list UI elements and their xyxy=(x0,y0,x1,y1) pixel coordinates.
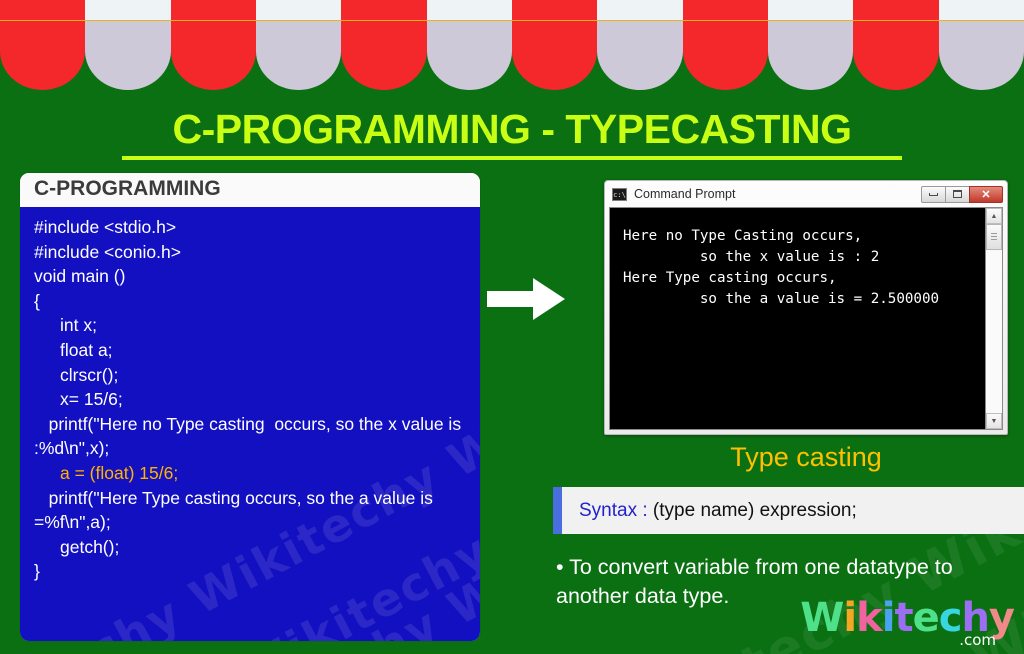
command-prompt-icon: c:\ xyxy=(612,188,627,201)
code-line: clrscr(); xyxy=(34,363,468,388)
minimize-icon xyxy=(929,193,938,196)
console-titlebar: c:\ Command Prompt ✕ xyxy=(607,183,1005,205)
wikitechy-logo: Wikitechy .com xyxy=(800,598,1014,648)
logo-letter: W xyxy=(800,595,843,641)
close-button[interactable]: ✕ xyxy=(969,186,1003,203)
syntax-accent-bar xyxy=(553,487,562,534)
console-output: Here no Type Casting occurs, so the x va… xyxy=(610,208,985,429)
code-panel-header: C-PROGRAMMING xyxy=(20,173,480,207)
syntax-box: Syntax : (type name) expression; xyxy=(553,487,1024,534)
code-line: int x; xyxy=(34,313,468,338)
logo-letter: e xyxy=(913,595,939,641)
code-line: getch(); xyxy=(34,535,468,560)
page-title: C-PROGRAMMING - TYPECASTING xyxy=(0,108,1024,151)
title-underline xyxy=(122,156,902,160)
awning-stripe xyxy=(597,0,682,90)
awning-stripe xyxy=(683,0,768,90)
window-buttons: ✕ xyxy=(922,186,1003,203)
scroll-down-button[interactable]: ▼ xyxy=(986,413,1002,429)
logo-letter: i xyxy=(843,595,856,641)
awning-stripe xyxy=(0,0,85,90)
code-line: x= 15/6; xyxy=(34,387,468,412)
command-prompt-window: c:\ Command Prompt ✕ Wikitechy Wikitechy… xyxy=(604,180,1008,435)
scroll-up-button[interactable]: ▲ xyxy=(986,208,1002,224)
awning-banner xyxy=(0,0,1024,90)
code-line: float a; xyxy=(34,338,468,363)
section-caption: Type casting xyxy=(604,442,1008,473)
scrollbar-track[interactable] xyxy=(986,224,1002,413)
code-line: void main () xyxy=(34,264,468,289)
awning-stripe xyxy=(512,0,597,90)
syntax-label: Syntax : xyxy=(579,500,653,521)
awning-stripe xyxy=(853,0,938,90)
awning-stripe xyxy=(939,0,1024,90)
code-line: a = (float) 15/6; xyxy=(34,461,468,486)
awning-divider-line xyxy=(0,20,1024,21)
code-line: printf("Here Type casting occurs, so the… xyxy=(34,486,468,535)
code-line: printf("Here no Type casting occurs, so … xyxy=(34,412,468,461)
code-line: } xyxy=(34,559,468,584)
syntax-value: (type name) expression; xyxy=(653,500,857,521)
console-screen: Wikitechy Wikitechy Wikitechy Wikitechy … xyxy=(609,207,1003,430)
flow-arrow-icon xyxy=(487,276,565,322)
code-line: { xyxy=(34,289,468,314)
console-scrollbar[interactable]: ▲ ▼ xyxy=(985,208,1002,429)
logo-letter: i xyxy=(882,595,895,641)
logo-letter: c xyxy=(939,595,962,641)
minimize-button[interactable] xyxy=(921,186,946,203)
awning-stripe xyxy=(85,0,170,90)
code-listing: #include <stdio.h>#include <conio.h>void… xyxy=(34,215,468,584)
maximize-icon xyxy=(953,190,962,198)
page-title-block: C-PROGRAMMING - TYPECASTING xyxy=(0,108,1024,160)
code-line: #include <conio.h> xyxy=(34,240,468,265)
awning-stripe xyxy=(341,0,426,90)
syntax-text: Syntax : (type name) expression; xyxy=(562,500,857,522)
code-line: #include <stdio.h> xyxy=(34,215,468,240)
maximize-button[interactable] xyxy=(945,186,970,203)
console-window-title: Command Prompt xyxy=(634,187,922,201)
code-panel-body: Wikitechy Wikitechy Wikitechy Wikitechy … xyxy=(20,207,480,641)
awning-stripe xyxy=(768,0,853,90)
awning-stripe xyxy=(256,0,341,90)
code-panel: C-PROGRAMMING Wikitechy Wikitechy Wikite… xyxy=(20,173,480,641)
awning-stripe xyxy=(171,0,256,90)
logo-letter: k xyxy=(856,595,882,641)
logo-letter: t xyxy=(894,595,912,641)
awning-stripe xyxy=(427,0,512,90)
scrollbar-thumb[interactable] xyxy=(986,224,1002,250)
